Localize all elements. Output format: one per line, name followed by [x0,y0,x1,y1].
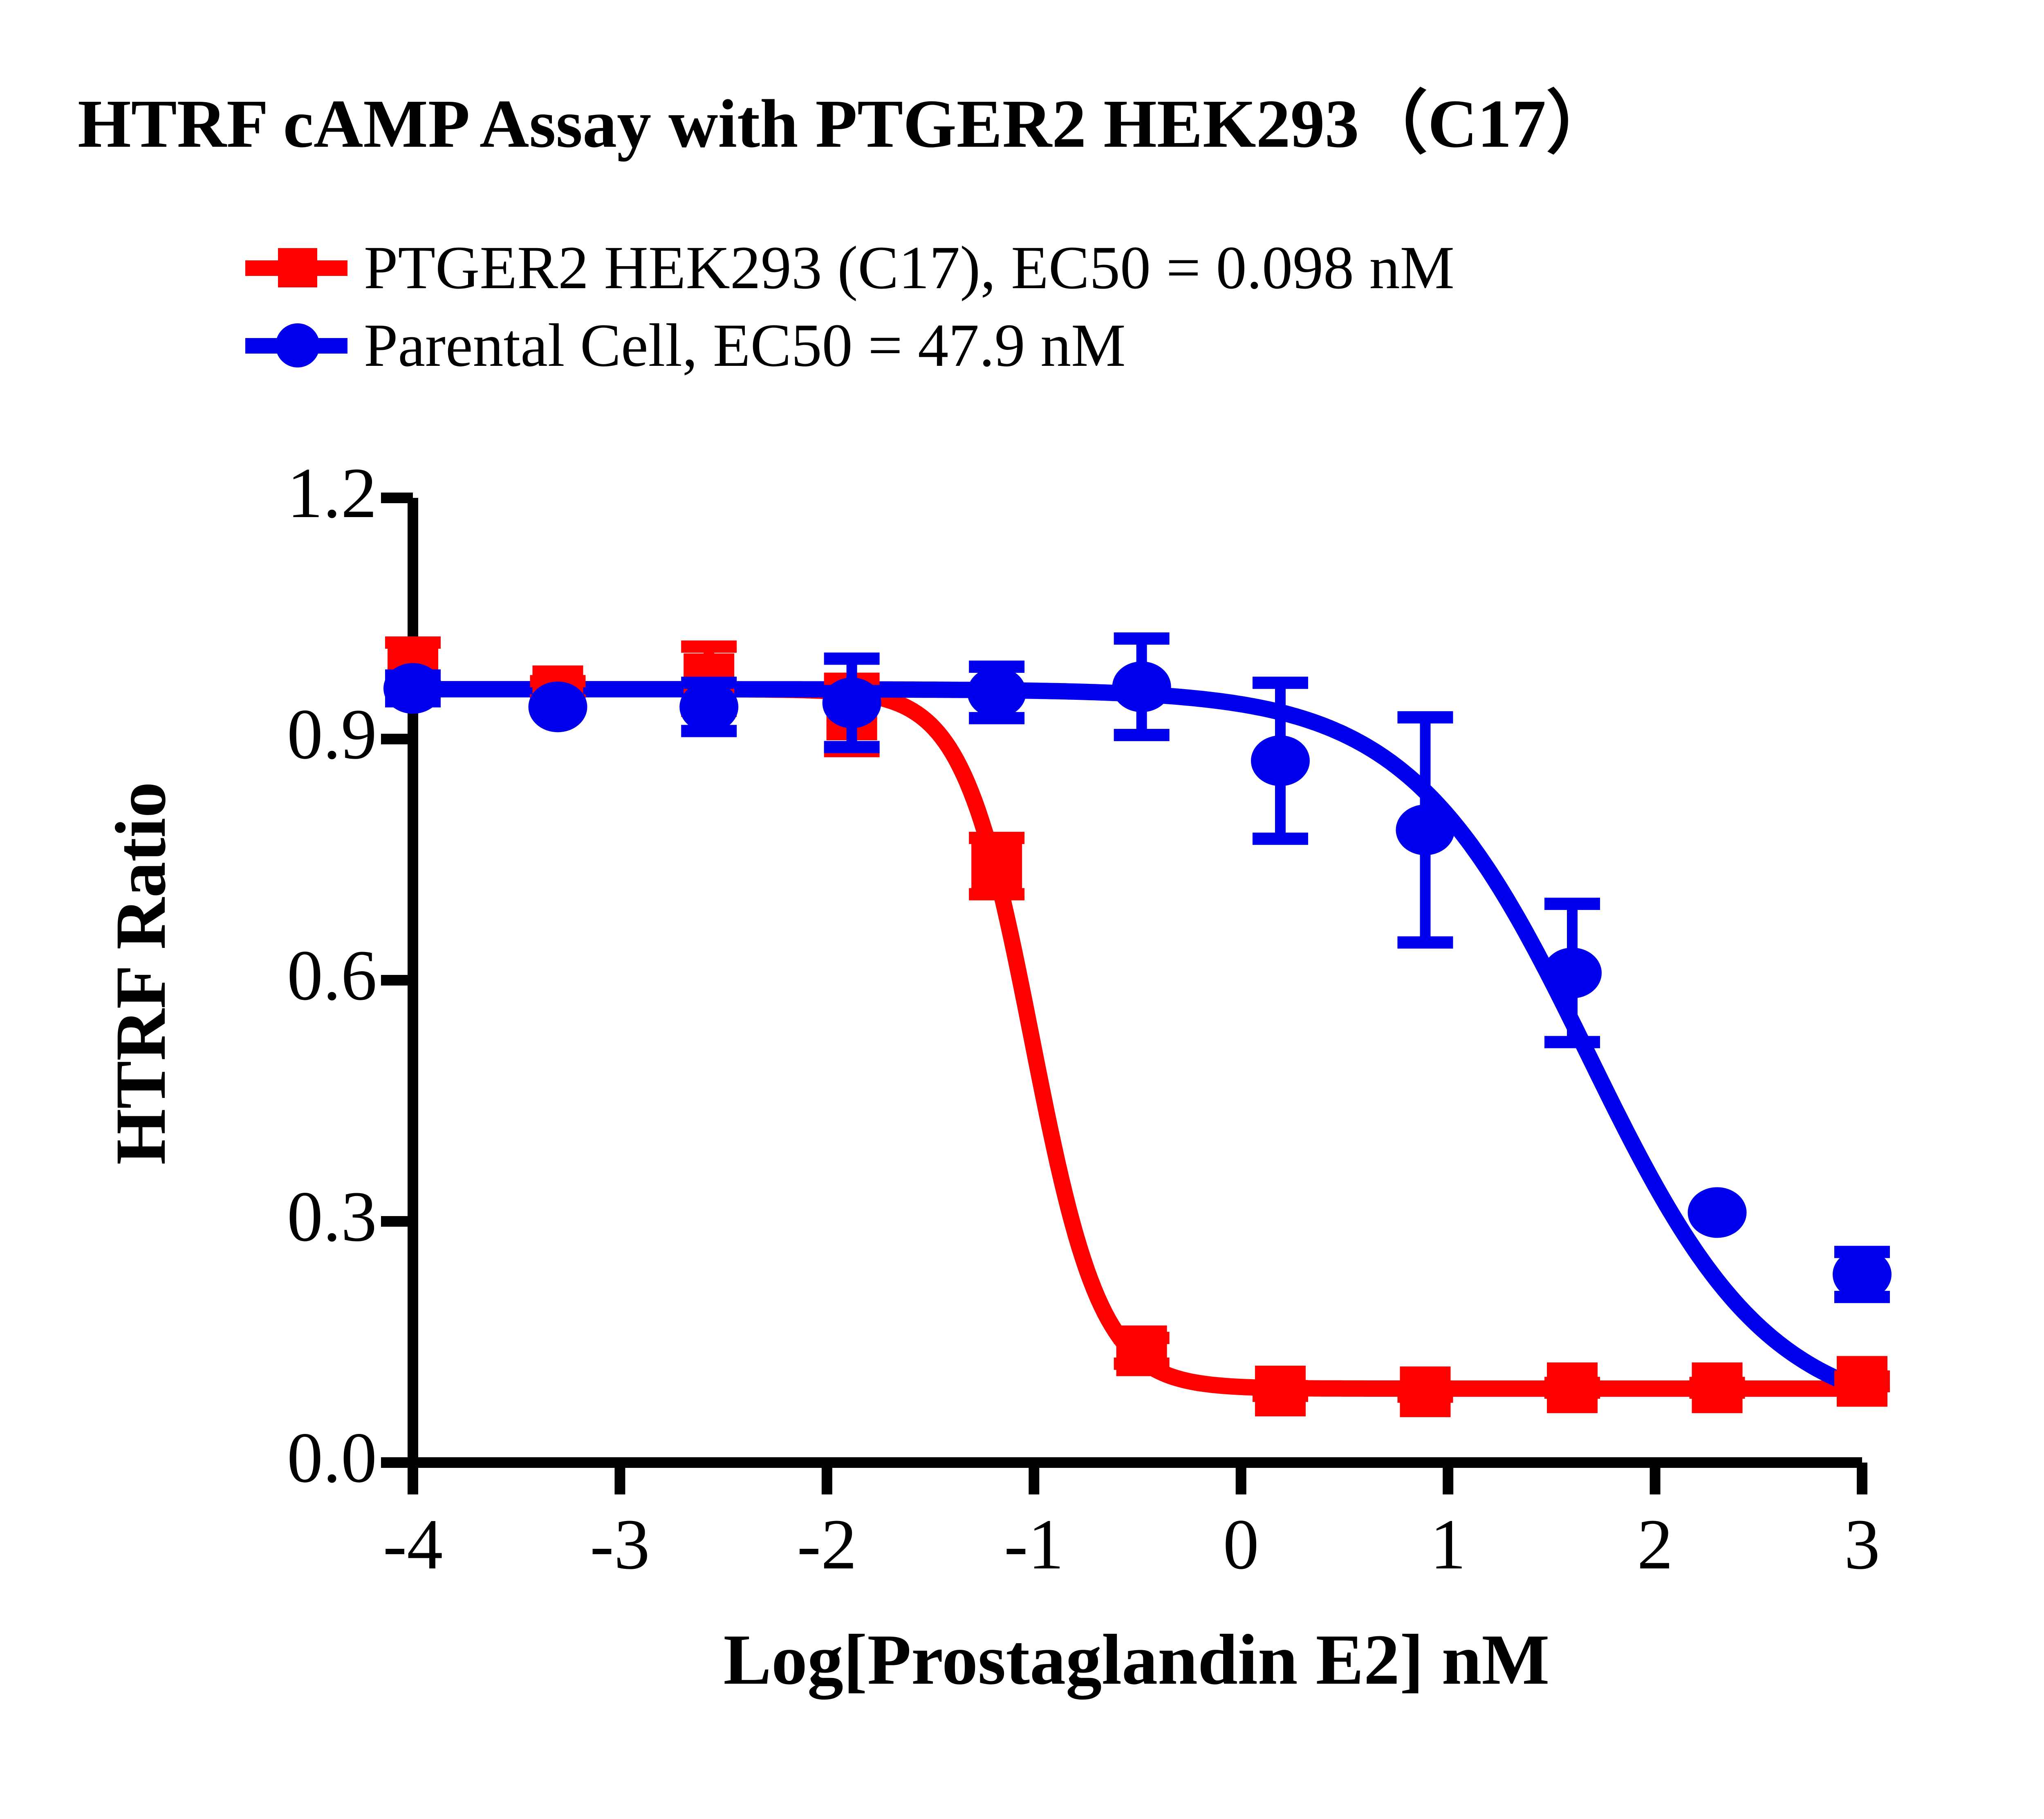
x-tick-label: -3 [558,1503,681,1586]
data-point-square[interactable] [1116,1326,1167,1376]
data-point-circle[interactable] [967,667,1026,718]
data-point-square[interactable] [1400,1366,1450,1417]
x-tick-label: -1 [973,1503,1095,1586]
data-point-circle[interactable] [1543,948,1602,998]
data-point-circle[interactable] [1688,1187,1747,1238]
data-point-circle[interactable] [823,678,881,728]
x-tick-label: -4 [352,1503,474,1586]
series-curve [413,689,1862,1389]
data-point-circle[interactable] [1112,661,1171,712]
y-tick-label: 1.2 [205,452,377,535]
data-point-square[interactable] [1692,1362,1743,1413]
data-point-circle[interactable] [1396,804,1455,855]
x-tick-label: 3 [1801,1503,1923,1586]
data-point-square[interactable] [971,841,1022,892]
data-point-circle[interactable] [383,663,442,714]
data-point-circle[interactable] [1251,735,1310,786]
data-point-square[interactable] [1837,1356,1887,1407]
x-tick-label: 1 [1387,1503,1509,1586]
data-point-square[interactable] [1547,1362,1598,1413]
y-tick-label: 0.6 [205,934,377,1017]
x-tick-label: -2 [766,1503,888,1586]
y-tick-label: 0.3 [205,1176,377,1258]
series-curve [413,689,1862,1389]
data-point-square[interactable] [1255,1366,1306,1416]
y-tick-label: 0.9 [205,693,377,776]
data-point-circle[interactable] [1833,1249,1892,1300]
y-tick-label: 0.0 [205,1417,377,1499]
x-tick-label: 0 [1180,1503,1302,1586]
data-point-circle[interactable] [679,681,738,732]
plot-area: HTRF Ratio Log[Prostaglandin E2] nM 0.00… [0,0,2044,1819]
data-point-circle[interactable] [529,681,587,732]
x-tick-label: 2 [1594,1503,1717,1586]
